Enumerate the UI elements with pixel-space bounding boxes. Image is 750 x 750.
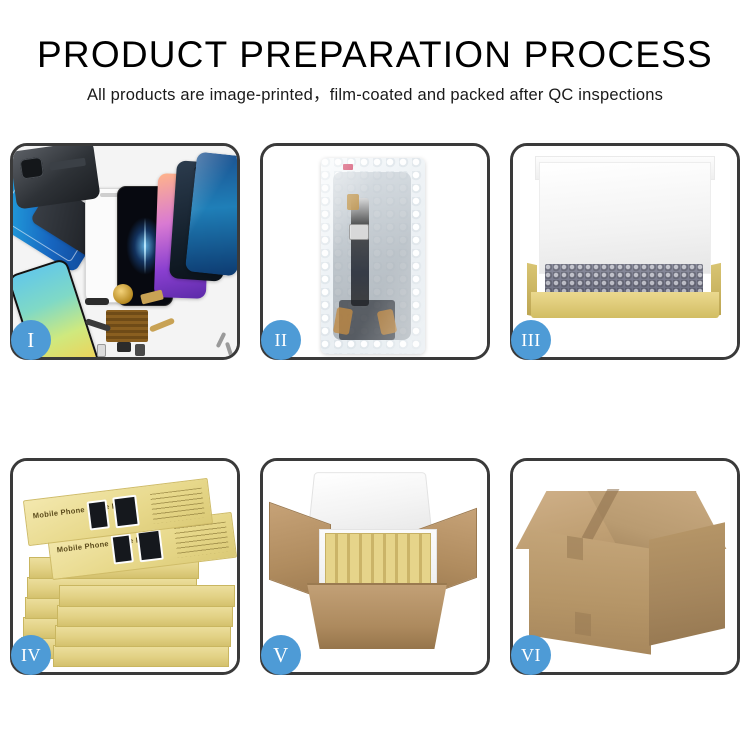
process-step-grid: I II — [10, 143, 740, 675]
gold-contact-top-icon — [347, 194, 359, 210]
connector-strip-icon — [85, 298, 109, 305]
pink-label-tag-icon — [343, 164, 353, 170]
page-title: PRODUCT PREPARATION PROCESS — [0, 34, 750, 76]
step-badge-4: IV — [11, 635, 51, 675]
carton-body-icon — [307, 583, 447, 649]
step-badge-2: II — [261, 320, 301, 360]
speaker-coil-icon — [113, 284, 133, 304]
parts-assortment-image — [13, 146, 237, 357]
stacked-kraft-boxes-image: Mobile Phone Spare Parts Mobile Phone Sp… — [13, 461, 237, 672]
carton-tape-lower-icon — [575, 612, 591, 637]
carton-with-foam-box-image — [263, 461, 487, 672]
carton-side-face-icon — [649, 522, 725, 646]
circuit-board-icon — [106, 310, 148, 342]
battery-icon — [97, 344, 106, 357]
bubble-wrap-fill-icon — [545, 264, 703, 294]
carton-tape-upper-icon — [567, 536, 583, 561]
process-step-panel-2[interactable]: II — [260, 143, 490, 360]
box-front-panel-icon — [531, 292, 719, 318]
kraft-box-slab — [59, 585, 235, 607]
box-screen-art-1-icon — [87, 499, 110, 530]
process-step-panel-4[interactable]: Mobile Phone Spare Parts Mobile Phone Sp… — [10, 458, 240, 675]
screen-flex-cable-icon — [351, 198, 369, 306]
foam-sheet-icon — [539, 162, 711, 274]
bubble-wrap-bag-icon — [321, 158, 425, 354]
page-subtitle: All products are image-printed，film-coat… — [0, 84, 750, 106]
screwdriver-icon — [225, 342, 233, 357]
screen-connector-icon — [349, 224, 369, 240]
packed-kraft-boxes-icon — [325, 533, 431, 585]
process-step-panel-3[interactable]: III — [510, 143, 740, 360]
process-step-panel-6[interactable]: VI — [510, 458, 740, 675]
box-screen-art-2-icon — [112, 495, 140, 529]
sealed-carton-image — [513, 461, 737, 672]
step-badge-1: I — [11, 320, 51, 360]
step-badge-5: V — [261, 635, 301, 675]
box-spec-lines — [150, 488, 205, 524]
open-kraft-box-image — [513, 146, 737, 357]
bubble-wrapped-screen-image — [263, 146, 487, 357]
kraft-box-slab — [55, 625, 231, 647]
box-screen-art-1-icon — [111, 533, 134, 564]
kraft-box-slab — [57, 605, 233, 627]
screw-icon — [216, 332, 227, 348]
box-screen-art-2-icon — [136, 529, 164, 563]
page-header: PRODUCT PREPARATION PROCESS All products… — [0, 0, 750, 106]
process-step-panel-5[interactable]: V — [260, 458, 490, 675]
kraft-box-slab — [53, 645, 229, 667]
chip-icon — [117, 342, 131, 352]
camera-module-icon — [135, 344, 145, 356]
product-preparation-page: PRODUCT PREPARATION PROCESS All products… — [0, 0, 750, 750]
gold-flex-icon — [149, 317, 175, 332]
step-badge-6: VI — [511, 635, 551, 675]
step-badge-3: III — [511, 320, 551, 360]
process-step-panel-1[interactable]: I — [10, 143, 240, 360]
